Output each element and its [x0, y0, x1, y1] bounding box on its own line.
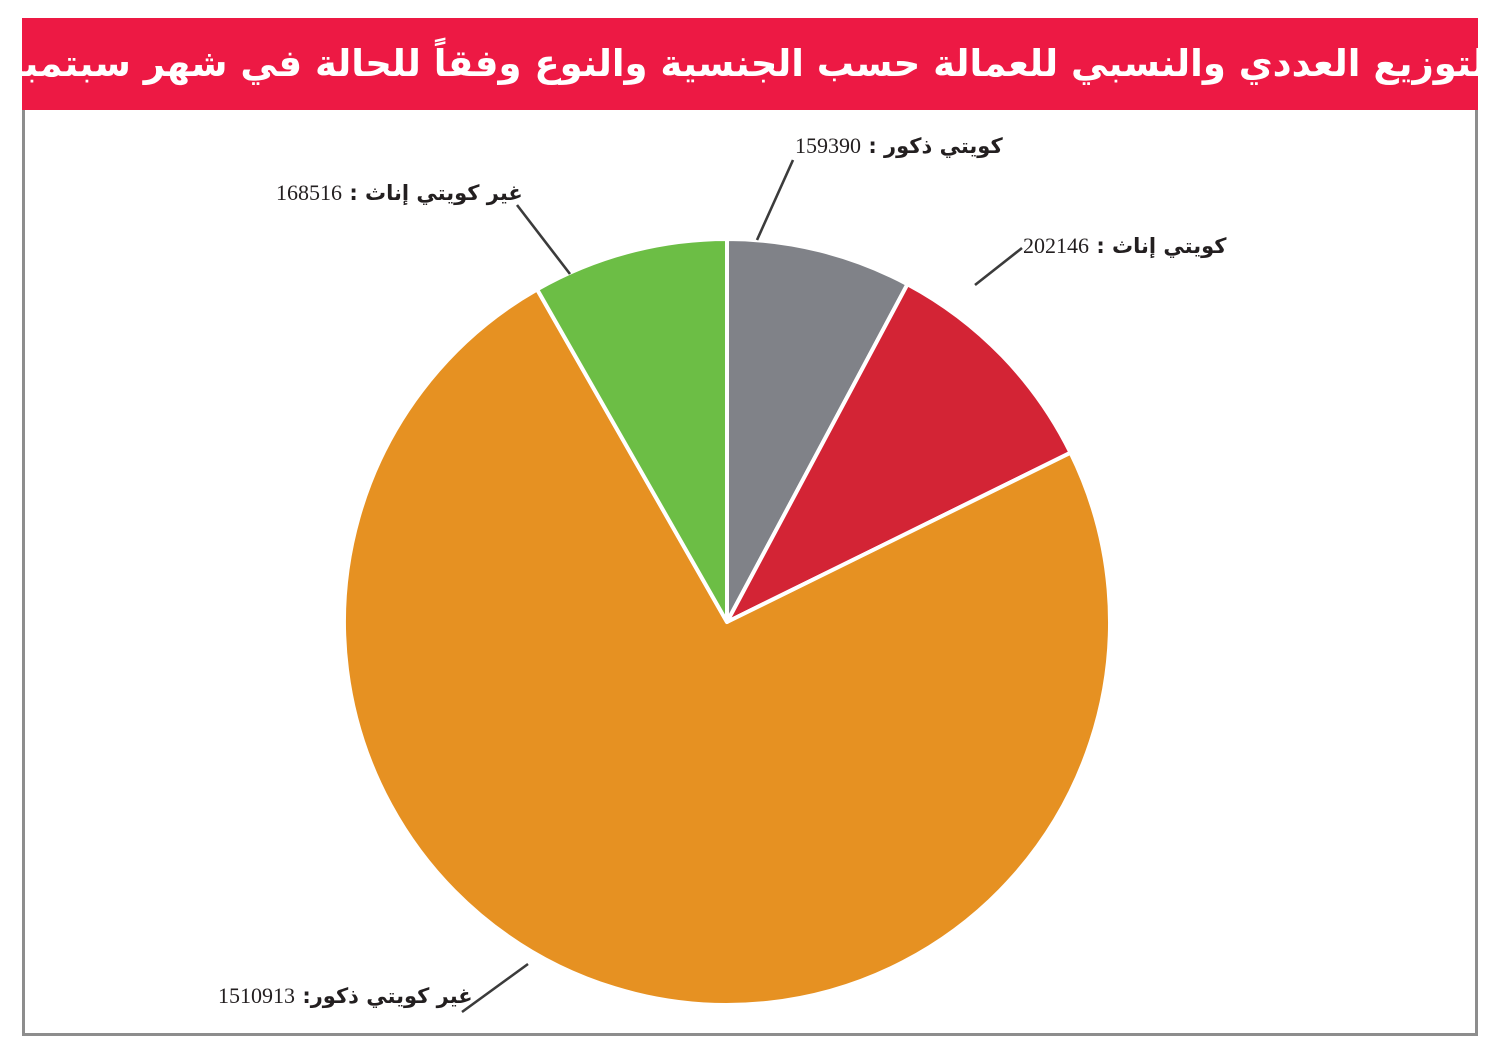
label-kuwaiti-male-value: 159390: [795, 133, 861, 158]
label-nonkuwaiti-female-text: غير كويتي إناث :: [349, 181, 522, 205]
page-title: التوزيع العددي والنسبي للعمالة حسب الجنس…: [1, 44, 1498, 85]
infographic-poster: التوزيع العددي والنسبي للعمالة حسب الجنس…: [0, 0, 1500, 1063]
chart-frame: [22, 110, 1478, 1036]
label-kuwaiti-female-text: كويتي إناث :: [1096, 234, 1226, 258]
label-nonkuwaiti-female: غير كويتي إناث : 168516: [276, 180, 523, 205]
label-kuwaiti-male: كويتي ذكور : 159390: [795, 133, 1003, 158]
label-nonkuwaiti-male-text: غير كويتي ذكور:: [302, 984, 472, 1008]
label-nonkuwaiti-male: غير كويتي ذكور: 1510913: [218, 983, 473, 1008]
label-nonkuwaiti-female-value: 168516: [276, 180, 342, 205]
label-kuwaiti-male-text: كويتي ذكور :: [868, 134, 1002, 158]
header-band: التوزيع العددي والنسبي للعمالة حسب الجنس…: [22, 18, 1478, 110]
label-nonkuwaiti-male-value: 1510913: [218, 983, 295, 1008]
label-kuwaiti-female: كويتي إناث : 202146: [1023, 233, 1227, 258]
label-kuwaiti-female-value: 202146: [1023, 233, 1089, 258]
